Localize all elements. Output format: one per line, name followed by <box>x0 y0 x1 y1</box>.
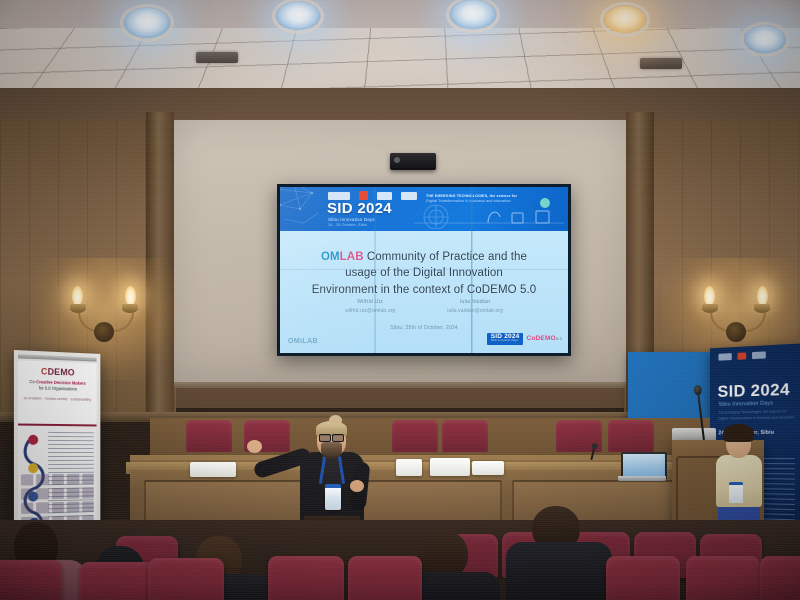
author-1-email: wilfrid.utz@omlab.org <box>345 308 395 314</box>
slide-title: OMLAB Community of Practice and the usag… <box>290 249 558 298</box>
host-hair-top <box>723 424 754 442</box>
speaker-right-hand <box>350 480 364 492</box>
sid-banner-logo-3 <box>752 351 766 359</box>
slide-header-band: SID 2024 Sibiu Innovation Days 24 - 25 O… <box>280 187 568 231</box>
author-1-name: Wilfrid Utz <box>345 299 395 305</box>
sponsor-logo-3 <box>377 192 392 200</box>
ceiling-vent-left <box>196 52 238 63</box>
audience-seat[interactable] <box>686 556 760 600</box>
codemo-subline: co-creation · human-centric · sustainabi… <box>18 396 97 402</box>
slide-event-name: SID 2024 <box>327 201 392 216</box>
slide-event-dates: 24 - 25 October, Sibiu <box>328 223 367 227</box>
sponsor-logo-row <box>328 191 417 200</box>
presentation-video-wall[interactable]: SID 2024 Sibiu Innovation Days 24 - 25 O… <box>277 184 571 356</box>
author-2-email: iulia.vaidian@omlab.org <box>447 308 503 314</box>
laptop-screen <box>623 454 665 478</box>
partner-logo <box>52 502 64 513</box>
slide-footer-logos: SID 2024 Sibiu Innovation Days CoDEMO5.0 <box>487 333 562 345</box>
ceiling-light-2 <box>276 2 320 30</box>
partner-logo <box>67 474 79 485</box>
desk-papers-mid-2 <box>430 458 470 476</box>
host-name-badge <box>729 482 743 503</box>
partner-logo <box>21 503 34 514</box>
stage-chair-3[interactable] <box>392 420 438 452</box>
sid-banner-logo-2 <box>738 352 747 359</box>
laptop-keyboard[interactable] <box>618 476 666 481</box>
ceiling-light-4-warm <box>604 6 646 33</box>
partner-logo <box>82 501 94 512</box>
partner-logo <box>37 474 49 485</box>
partner-logo <box>52 488 64 499</box>
slide-title-line2: usage of the Digital Innovation <box>345 267 503 279</box>
speaker-left-hand <box>247 440 262 453</box>
omilab-footer-logo: OMiLAB <box>288 338 318 345</box>
audience-seat[interactable] <box>148 558 224 600</box>
tech-illustration-icon <box>414 193 564 229</box>
sid-footer-badge: SID 2024 Sibiu Innovation Days <box>487 333 524 345</box>
stage-chair-1[interactable] <box>186 420 232 452</box>
wall-sconce-right <box>690 282 782 348</box>
sid-banner-logo-1 <box>718 353 731 361</box>
stage-chair-4[interactable] <box>442 420 488 452</box>
partner-logo <box>82 487 94 498</box>
slide-place-date: Sibiu, 25th of October, 2024 <box>280 325 568 331</box>
audience-seat[interactable] <box>760 556 800 600</box>
desk-papers-mid-1 <box>396 459 422 476</box>
wall-sconce-left <box>58 282 150 348</box>
sid-footer-badge-sub: Sibiu Innovation Days <box>491 340 520 343</box>
author-2-name: Iulia Vaidian <box>447 299 503 305</box>
speaker-hair-bun <box>329 415 342 426</box>
sid-banner-title: SID 2024 <box>718 381 790 400</box>
slide-event-subtitle: Sibiu Innovation Days <box>328 217 375 222</box>
speaker-lanyard <box>320 456 344 486</box>
slide-surface: SID 2024 Sibiu Innovation Days 24 - 25 O… <box>280 187 568 353</box>
slide-title-line1: Community of Practice and the <box>364 251 527 263</box>
partner-logo <box>37 502 49 513</box>
partner-logo <box>82 474 94 485</box>
audience-seat[interactable] <box>0 560 62 600</box>
partner-logo <box>21 488 34 499</box>
ceiling-light-5 <box>744 26 786 53</box>
sid-banner-logos <box>718 351 765 360</box>
codemo-footer-text: CoDEMO <box>526 335 555 342</box>
speaker-beard <box>321 442 342 459</box>
sponsor-logo-1 <box>328 192 350 200</box>
author-2: Iulia Vaidian iulia.vaidian@omlab.org <box>447 299 503 314</box>
codemo-tagline-pre: Co- <box>29 379 36 384</box>
codemo-tagline: Co-Creative Decision Makers for 5.0 Orga… <box>18 379 97 394</box>
desk-laptop[interactable] <box>618 452 666 480</box>
sid-banner-theme: The Emerging Technologies, the science f… <box>718 409 797 422</box>
conference-photo-scene: SID 2024 Sibiu Innovation Days 24 - 25 O… <box>0 0 800 600</box>
ceiling-camera-box <box>390 153 436 170</box>
partner-logo <box>21 474 34 485</box>
slide-authors: Wilfrid Utz wilfrid.utz@omlab.org Iulia … <box>280 299 568 314</box>
stage-chair-6[interactable] <box>608 420 654 452</box>
audience-seat[interactable] <box>606 556 680 600</box>
codemo-footer-sub: 5.0 <box>556 336 562 341</box>
codemo-tagline-post: for 5.0 Organisations <box>39 386 77 392</box>
author-1: Wilfrid Utz wilfrid.utz@omlab.org <box>345 299 395 314</box>
audience-seat[interactable] <box>80 562 154 600</box>
codemo-logo: CDEMO <box>18 360 97 378</box>
speaker-name-badge <box>325 484 341 510</box>
sid-banner-subtitle: Sibiu Innovation Days <box>718 400 773 407</box>
partner-logo <box>67 502 79 513</box>
ceiling-vent-right <box>640 58 682 69</box>
codemo-logo-demo: DEMO <box>48 367 75 378</box>
sponsor-logo-2 <box>359 191 368 200</box>
slide-body: OMLAB Community of Practice and the usag… <box>280 231 568 349</box>
speaker-glasses-icon <box>319 434 344 440</box>
ceiling-light-1 <box>124 8 170 38</box>
rollup-header: CDEMO Co-Creative Decision Makers for 5.… <box>18 360 97 427</box>
omilab-brand-om: OM <box>321 251 340 263</box>
ceiling-light-3 <box>450 0 496 29</box>
partner-logo <box>52 474 64 485</box>
partner-logo <box>67 488 79 499</box>
desk-papers-left <box>190 462 236 477</box>
audience-seat[interactable] <box>348 556 422 600</box>
audience-seat[interactable] <box>268 556 344 600</box>
codemo-footer-logo: CoDEMO5.0 <box>526 335 562 342</box>
audience-person-body <box>506 542 612 600</box>
slide-title-line3: Environment in the context of CoDEMO 5.0 <box>312 284 537 296</box>
desk-papers-mid-3 <box>472 461 504 475</box>
omilab-brand-lab: LAB <box>340 251 364 263</box>
partner-logo <box>37 488 49 499</box>
